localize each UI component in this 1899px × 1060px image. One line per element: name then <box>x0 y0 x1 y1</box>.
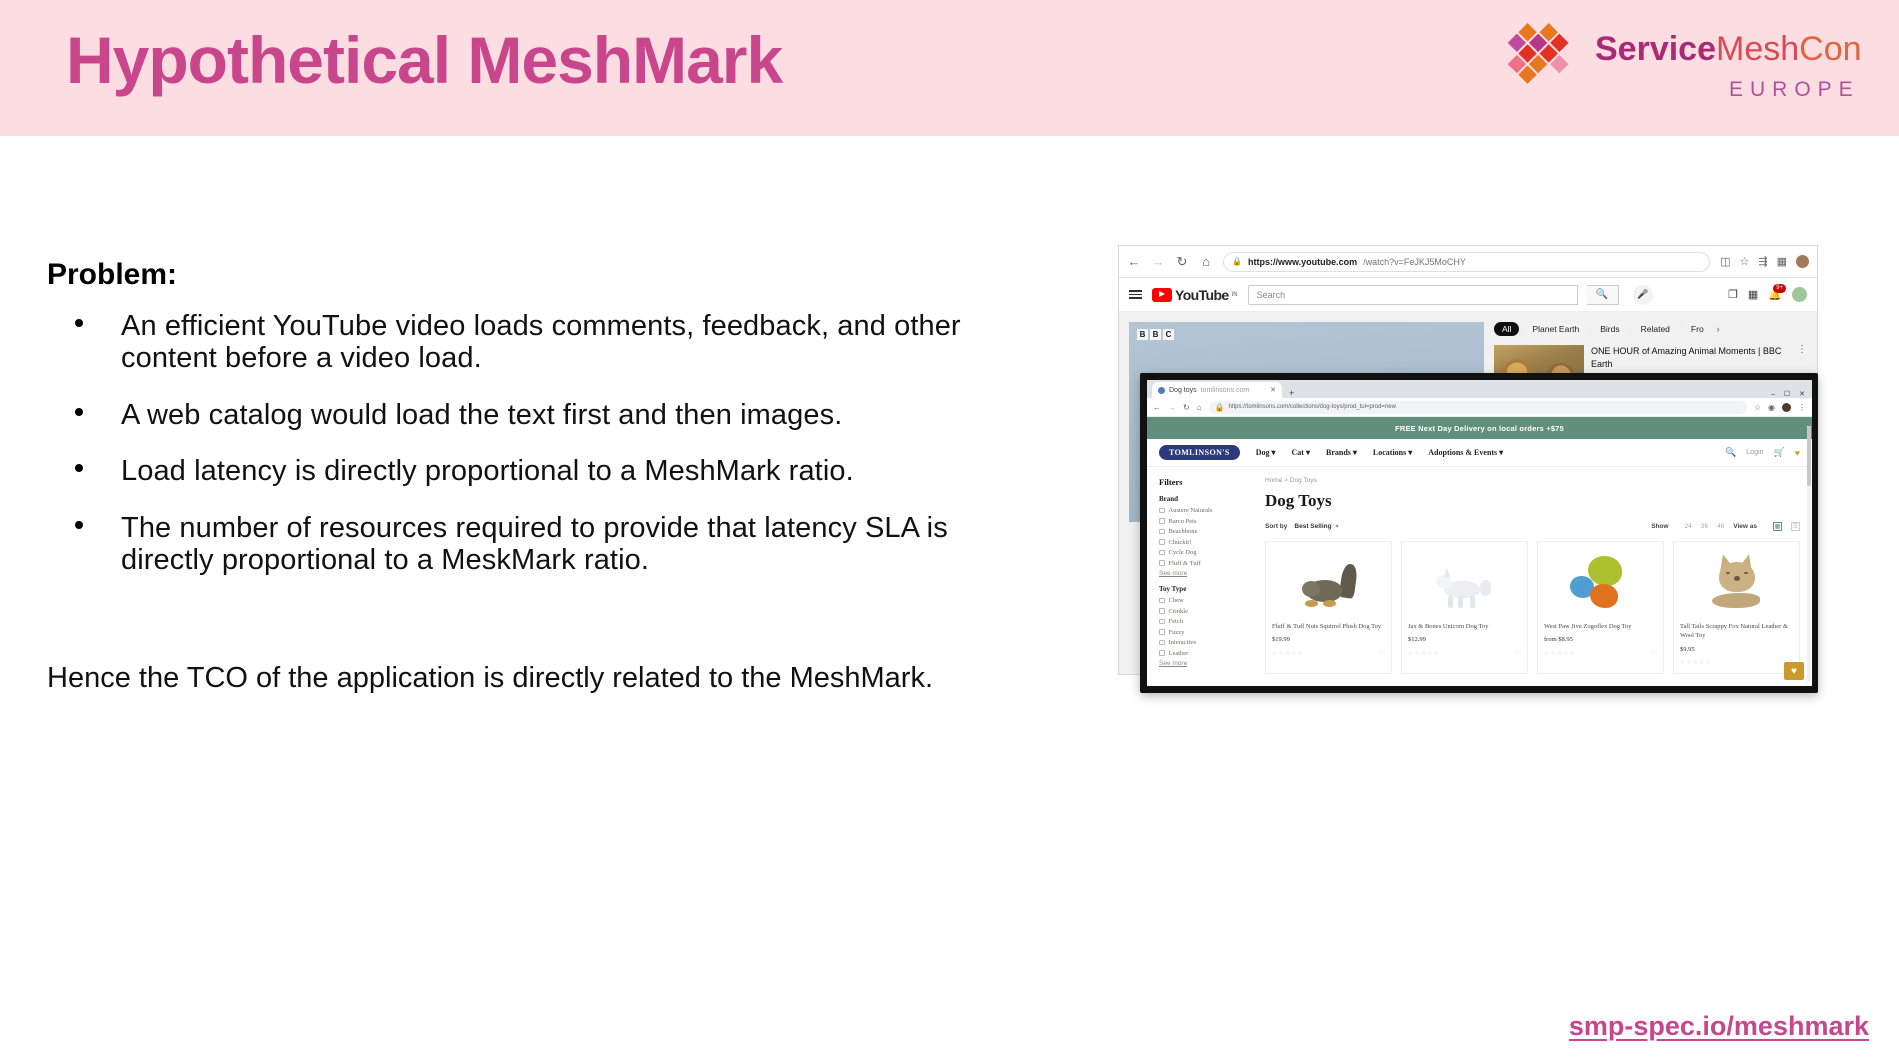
filter-label: Leather <box>1169 650 1189 657</box>
filter-option[interactable]: Fetch <box>1159 618 1251 625</box>
filter-label: Barco Pets <box>1169 518 1197 525</box>
logo-service: Service <box>1595 30 1716 68</box>
filter-label: Fetch <box>1169 618 1183 625</box>
chip-from[interactable]: Fro <box>1683 322 1712 336</box>
product-image <box>1408 548 1521 616</box>
wishlist-heart-icon[interactable]: ♡ <box>1515 649 1521 657</box>
filter-option[interactable]: Chuckit! <box>1159 539 1251 546</box>
filter-option[interactable]: Fuzzy <box>1159 629 1251 636</box>
product-grid: Fluff & Tuff Nuts Squirrel Plush Dog Toy… <box>1265 541 1800 674</box>
address-bar[interactable]: 🔒 https://www.youtube.com/watch?v=FeJKJ5… <box>1223 252 1710 272</box>
rating-stars-icon[interactable]: ☆☆☆☆☆ <box>1544 650 1576 657</box>
product-name: Tall Tails Scrappy Fox Natural Leather &… <box>1680 622 1793 641</box>
browser-tab[interactable]: Dog toys tomlinsons.com ✕ <box>1152 382 1282 398</box>
checkbox-icon[interactable] <box>1159 539 1165 545</box>
show-option-24[interactable]: 24 <box>1685 523 1692 530</box>
cart-icon[interactable]: 🛒 <box>1773 447 1784 458</box>
product-card-footer: ☆☆☆☆☆ ♡ <box>1272 649 1385 657</box>
list-item: A web catalog would load the text first … <box>47 399 1007 431</box>
see-more-brand-link[interactable]: See more <box>1159 570 1251 577</box>
close-tab-icon[interactable]: ✕ <box>1270 386 1276 394</box>
lock-icon: 🔒 <box>1215 403 1225 412</box>
filter-option[interactable]: Beachbone <box>1159 528 1251 535</box>
see-more-toytype-link[interactable]: See more <box>1159 660 1251 667</box>
video-title[interactable]: ONE HOUR of Amazing Animal Moments | BBC… <box>1591 345 1790 370</box>
home-icon[interactable]: ⌂ <box>1199 254 1213 269</box>
catalog-browser-viewport: Dog toys tomlinsons.com ✕ + – ☐ ✕ ← → ↻ <box>1147 380 1812 686</box>
filter-option[interactable]: Barco Pets <box>1159 518 1251 525</box>
product-name: Jax & Bones Unicorn Dog Toy <box>1408 622 1521 631</box>
view-as-label: View as <box>1733 523 1757 530</box>
account-avatar[interactable] <box>1792 287 1807 302</box>
search-button[interactable]: 🔍 <box>1587 285 1619 305</box>
checkbox-icon[interactable] <box>1159 598 1165 604</box>
chevron-down-icon[interactable]: ▾ <box>1336 523 1339 530</box>
masthead-actions: ❐ ▦ 🔔9+ <box>1728 287 1807 302</box>
wishlist-heart-icon[interactable]: ♡ <box>1651 649 1657 657</box>
chip-all[interactable]: All <box>1494 322 1519 336</box>
list-item: An efficient YouTube video loads comment… <box>47 310 1007 375</box>
nav-item-dog[interactable]: Dog ▾ <box>1256 448 1276 457</box>
filter-label: Interactive <box>1169 639 1197 646</box>
favorites-icon[interactable]: ☆ <box>1754 403 1761 412</box>
forward-icon: → <box>1151 254 1165 269</box>
rating-stars-icon[interactable]: ☆☆☆☆☆ <box>1408 650 1440 657</box>
filter-label: Fluff & Tuff <box>1169 560 1201 567</box>
youtube-wordmark: YouTube <box>1175 287 1229 303</box>
bullet-dot-icon <box>75 408 83 416</box>
hamburger-menu-icon[interactable] <box>1129 290 1142 299</box>
checkbox-icon[interactable] <box>1159 508 1165 514</box>
home-icon[interactable]: ⌂ <box>1197 403 1202 412</box>
sort-value[interactable]: Best Selling <box>1294 523 1331 530</box>
notification-badge: 9+ <box>1773 284 1786 293</box>
tomlinsons-logo[interactable]: TOMLINSON'S <box>1159 445 1240 460</box>
collections-icon[interactable]: ⇶ <box>1758 255 1767 268</box>
servicemeshcon-logo-mark <box>1493 22 1579 92</box>
screenshot-composite: ← → ↻ ⌂ 🔒 https://www.youtube.com/watch?… <box>1118 245 1818 695</box>
browser-tab-strip: Dog toys tomlinsons.com ✕ + – ☐ ✕ <box>1147 380 1812 398</box>
split-screen-icon[interactable]: ◫ <box>1720 255 1730 268</box>
site-nav-actions: 🔍 Login 🛒 ♥ <box>1725 447 1800 458</box>
product-card[interactable]: West Paw Jive Zogoflex Dog Toy from $8.9… <box>1537 541 1664 674</box>
back-icon[interactable]: ← <box>1153 403 1161 412</box>
filter-label: Beachbone <box>1169 528 1198 535</box>
filter-label: Fuzzy <box>1169 629 1185 636</box>
checkbox-icon[interactable] <box>1159 619 1165 625</box>
notifications-icon[interactable]: 🔔9+ <box>1768 288 1782 301</box>
product-card[interactable]: Fluff & Tuff Nuts Squirrel Plush Dog Toy… <box>1265 541 1392 674</box>
chevron-right-icon[interactable]: › <box>1717 324 1720 334</box>
list-item: Load latency is directly proportional to… <box>47 455 1007 487</box>
filter-option[interactable]: Leather <box>1159 650 1251 657</box>
product-card-footer: ☆☆☆☆☆ ♡ <box>1544 649 1657 657</box>
youtube-masthead: YouTube IN Search 🔍 🎤 ❐ ▦ 🔔9+ <box>1119 278 1817 312</box>
extensions-icon[interactable]: ◉ <box>1768 403 1775 412</box>
site-navigation: TOMLINSON'S Dog ▾ Cat ▾ Brands ▾ Locatio… <box>1147 439 1812 467</box>
nav-item-brands[interactable]: Brands ▾ <box>1326 448 1357 457</box>
rating-stars-icon[interactable]: ☆☆☆☆☆ <box>1680 659 1712 666</box>
reload-icon[interactable]: ↻ <box>1175 254 1189 270</box>
checkbox-icon[interactable] <box>1159 529 1165 535</box>
extensions-icon[interactable]: ▦ <box>1777 255 1787 268</box>
show-option-48[interactable]: 48 <box>1717 523 1724 530</box>
tab-subtitle: tomlinsons.com <box>1201 387 1250 394</box>
bbc-letter: C <box>1163 329 1174 340</box>
chip-birds[interactable]: Birds <box>1592 322 1627 336</box>
product-price: $19.99 <box>1272 636 1385 643</box>
back-icon[interactable]: ← <box>1127 254 1141 269</box>
catalog-main: Filters Brand Austere Naturals Barco Pet… <box>1147 467 1812 684</box>
youtube-logo[interactable]: YouTube IN <box>1152 287 1238 303</box>
category-title: Dog Toys <box>1265 491 1800 511</box>
product-card-footer: ☆☆☆☆☆ ♡ <box>1408 649 1521 657</box>
closing-paragraph: Hence the TCO of the application is dire… <box>47 662 977 695</box>
checkbox-icon[interactable] <box>1159 640 1165 646</box>
show-option-36[interactable]: 36 <box>1701 523 1708 530</box>
filter-label: Chew <box>1169 597 1184 604</box>
checkbox-icon[interactable] <box>1159 518 1165 524</box>
breadcrumb: Home > Dog Toys <box>1265 477 1800 484</box>
apps-grid-icon[interactable]: ▦ <box>1748 288 1758 301</box>
new-tab-icon[interactable]: + <box>1289 388 1294 398</box>
checkbox-icon[interactable] <box>1159 629 1165 635</box>
bbc-letter: B <box>1137 329 1148 340</box>
minimize-icon[interactable]: – <box>1771 391 1775 398</box>
lock-icon: 🔒 <box>1232 257 1242 266</box>
search-icon[interactable]: 🔍 <box>1725 447 1736 458</box>
checkbox-icon[interactable] <box>1159 608 1165 614</box>
menu-icon[interactable]: ⋮ <box>1798 403 1806 412</box>
meshmark-spec-link[interactable]: smp-spec.io/meshmark <box>1569 1011 1869 1042</box>
floating-wishlist-button[interactable]: ♥ <box>1784 662 1804 680</box>
filter-chip-bar: All Planet Earth Birds Related Fro › <box>1494 322 1807 336</box>
window-controls: – ☐ ✕ <box>1771 390 1812 398</box>
bullet-dot-icon <box>75 319 83 327</box>
product-image <box>1272 548 1385 616</box>
sort-toolbar: Sort by Best Selling ▾ Show 24 36 48 Vie… <box>1265 522 1800 531</box>
url-host: https://www.youtube.com <box>1248 257 1357 267</box>
maximize-icon[interactable]: ☐ <box>1784 390 1790 398</box>
search-input[interactable]: Search <box>1248 285 1578 305</box>
product-price: from $8.95 <box>1544 636 1657 643</box>
catalog-browser-window: Dog toys tomlinsons.com ✕ + – ☐ ✕ ← → ↻ <box>1140 373 1818 693</box>
filter-group-toytype-title: Toy Type <box>1159 585 1251 593</box>
bullet-dot-icon <box>75 521 83 529</box>
catalog-browser-chrome: ← → ↻ ⌂ 🔒 https://tomlinsons.com/collect… <box>1147 398 1812 417</box>
url-text: https://tomlinsons.com/collections/dog-t… <box>1229 404 1396 410</box>
filters-title: Filters <box>1159 477 1251 487</box>
squirrel-plush-image <box>1298 554 1360 610</box>
close-window-icon[interactable]: ✕ <box>1799 390 1805 398</box>
scrollbar[interactable] <box>1807 426 1811 682</box>
login-link[interactable]: Login <box>1746 449 1763 456</box>
filter-option[interactable]: Cycle Dog <box>1159 549 1251 556</box>
reload-icon[interactable]: ↻ <box>1183 403 1190 412</box>
view-controls: Show 24 36 48 View as ▦ ☰ <box>1651 522 1800 531</box>
bullet-text: A web catalog would load the text first … <box>121 399 842 431</box>
wishlist-heart-icon[interactable]: ♥ <box>1795 448 1800 458</box>
address-bar[interactable]: 🔒 https://tomlinsons.com/collections/dog… <box>1209 401 1747 414</box>
url-path: /watch?v=FeJKJ5MoCHY <box>1363 257 1466 267</box>
profile-avatar[interactable] <box>1782 403 1791 412</box>
youtube-browser-chrome: ← → ↻ ⌂ 🔒 https://www.youtube.com/watch?… <box>1119 246 1817 278</box>
bullet-dot-icon <box>75 464 83 472</box>
rating-stars-icon[interactable]: ☆☆☆☆☆ <box>1272 650 1304 657</box>
filter-group-brand-title: Brand <box>1159 495 1251 503</box>
sort-label: Sort by <box>1265 523 1287 530</box>
unicorn-plush-image <box>1434 554 1496 610</box>
product-card[interactable]: Tall Tails Scrappy Fox Natural Leather &… <box>1673 541 1800 674</box>
promo-banner: FREE Next Day Delivery on local orders +… <box>1147 417 1812 439</box>
logo-mesh: Mesh <box>1716 30 1799 68</box>
bullet-text: An efficient YouTube video loads comment… <box>121 310 961 374</box>
zogoflex-balls-image <box>1570 554 1632 610</box>
filter-option[interactable]: Interactive <box>1159 639 1251 646</box>
nav-item-adoptions[interactable]: Adoptions & Events ▾ <box>1428 448 1503 457</box>
chip-related[interactable]: Related <box>1633 322 1678 336</box>
page-title: Hypothetical MeshMark <box>66 22 782 98</box>
checkbox-icon[interactable] <box>1159 550 1165 556</box>
filter-label: Chuckit! <box>1169 539 1192 546</box>
filter-option[interactable]: Crinkle <box>1159 608 1251 615</box>
filter-label: Austere Naturals <box>1169 507 1213 514</box>
bbc-watermark-icon: B B C <box>1137 329 1174 340</box>
product-name: Fluff & Tuff Nuts Squirrel Plush Dog Toy <box>1272 622 1385 631</box>
filter-option[interactable]: Austere Naturals <box>1159 507 1251 514</box>
logo-region: EUROPE <box>1729 78 1860 102</box>
youtube-country-code: IN <box>1232 292 1238 298</box>
chrome-toolbar-right: ◫ ☆ ⇶ ▦ <box>1720 255 1809 268</box>
servicemeshcon-logo: ServiceMeshCon EUROPE <box>1459 14 1879 124</box>
logo-con: Con <box>1799 30 1861 68</box>
filter-option[interactable]: Chew <box>1159 597 1251 604</box>
product-price: $9.95 <box>1680 646 1793 653</box>
filter-label: Cycle Dog <box>1169 549 1197 556</box>
problem-heading: Problem: <box>47 258 177 292</box>
bbc-letter: B <box>1150 329 1161 340</box>
chrome-toolbar-right: ☆ ◉ ⋮ <box>1754 403 1806 412</box>
bullet-text: The number of resources required to prov… <box>121 512 948 576</box>
filter-option[interactable]: Fluff & Tuff <box>1159 560 1251 567</box>
bullet-list: An efficient YouTube video loads comment… <box>47 310 1007 601</box>
product-price: $12.99 <box>1408 636 1521 643</box>
bullet-text: Load latency is directly proportional to… <box>121 455 854 487</box>
slide-root: Hypothetical MeshMark ServiceMeshCon EUR… <box>0 0 1899 1060</box>
list-item: The number of resources required to prov… <box>47 512 1007 577</box>
filters-sidebar: Filters Brand Austere Naturals Barco Pet… <box>1159 477 1251 674</box>
product-image <box>1680 548 1793 616</box>
scrollbar-thumb[interactable] <box>1807 426 1811 486</box>
tab-favicon-icon <box>1158 387 1165 394</box>
grid-view-icon[interactable]: ▦ <box>1773 522 1782 531</box>
product-image <box>1544 548 1657 616</box>
youtube-play-icon <box>1152 288 1172 302</box>
logo-wordmark: ServiceMeshCon <box>1595 30 1862 69</box>
wishlist-heart-icon[interactable]: ♡ <box>1379 649 1385 657</box>
favorites-icon[interactable]: ☆ <box>1740 255 1750 268</box>
chip-planet-earth[interactable]: Planet Earth <box>1524 322 1587 336</box>
filter-label: Crinkle <box>1169 608 1189 615</box>
tab-title: Dog toys <box>1169 387 1197 394</box>
product-card-footer: ☆☆☆☆☆ ♡ <box>1680 659 1793 667</box>
fox-leather-toy-image <box>1706 554 1768 610</box>
checkbox-icon[interactable] <box>1159 560 1165 566</box>
microphone-icon[interactable]: 🎤 <box>1633 285 1653 305</box>
show-label: Show <box>1651 523 1668 530</box>
product-card[interactable]: Jax & Bones Unicorn Dog Toy $12.99 ☆☆☆☆☆… <box>1401 541 1528 674</box>
nav-item-cat[interactable]: Cat ▾ <box>1292 448 1310 457</box>
checkbox-icon[interactable] <box>1159 650 1165 656</box>
catalog-content: Home > Dog Toys Dog Toys Sort by Best Se… <box>1265 477 1800 674</box>
profile-avatar[interactable] <box>1796 255 1809 268</box>
product-name: West Paw Jive Zogoflex Dog Toy <box>1544 622 1657 631</box>
create-video-icon[interactable]: ❐ <box>1728 288 1738 301</box>
forward-icon: → <box>1168 403 1176 412</box>
nav-item-locations[interactable]: Locations ▾ <box>1373 448 1412 457</box>
list-view-icon[interactable]: ☰ <box>1791 522 1800 531</box>
